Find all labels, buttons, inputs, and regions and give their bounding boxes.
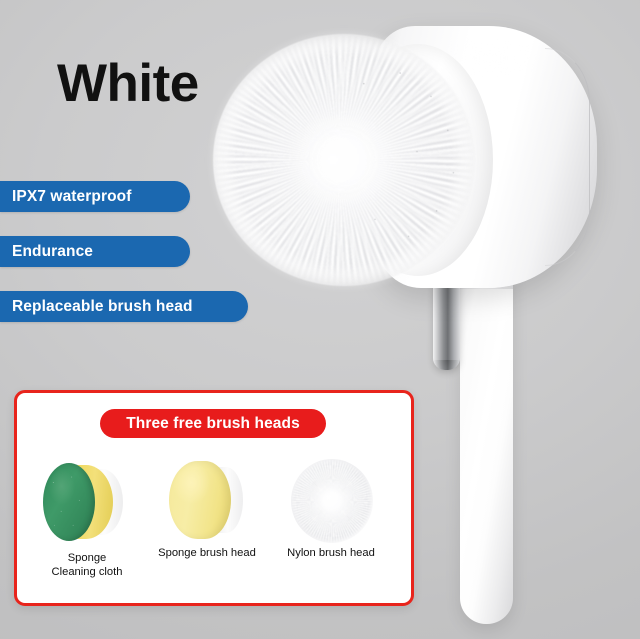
nylon-disc (291, 459, 373, 543)
accessory-caption: Nylon brush head (267, 546, 395, 560)
page-title: White (57, 57, 199, 110)
accessories-heading-label: Three free brush heads (126, 415, 300, 433)
yellow-sponge-head-icon (143, 451, 271, 549)
bristle-edge-glow (207, 28, 481, 292)
sponge-body (169, 461, 231, 539)
feature-badge-label: Replaceable brush head (12, 298, 193, 316)
housing-seam (545, 48, 590, 266)
feature-badge-label: Endurance (12, 243, 93, 261)
handle-grip (460, 271, 513, 624)
nylon-bristle-disc (213, 34, 475, 286)
accessory-item-sponge-brush-head: Sponge brush head (143, 451, 271, 591)
accessory-caption: Sponge Cleaning cloth (23, 551, 151, 580)
product-image-canvas: White IPX7 waterproof Endurance Replacea… (0, 0, 640, 639)
accessory-item-sponge-cleaning-cloth: Sponge Cleaning cloth (23, 451, 151, 591)
feature-badge-endurance: Endurance (0, 236, 190, 267)
nylon-strands (291, 459, 373, 543)
green-scouring-sponge-head-icon (23, 451, 151, 549)
accessory-item-nylon-brush-head: Nylon brush head (267, 451, 395, 591)
nylon-bristle-head-icon (267, 451, 395, 549)
stem-shadow (431, 360, 463, 376)
green-pad-texture (43, 463, 95, 541)
accessory-caption: Sponge brush head (143, 546, 271, 560)
accessories-heading-pill: Three free brush heads (100, 409, 326, 438)
feature-badge-ipx7-waterproof: IPX7 waterproof (0, 181, 190, 212)
feature-badge-label: IPX7 waterproof (12, 188, 132, 206)
accessories-panel: Three free brush heads Sponge Cleaning c… (14, 390, 414, 606)
